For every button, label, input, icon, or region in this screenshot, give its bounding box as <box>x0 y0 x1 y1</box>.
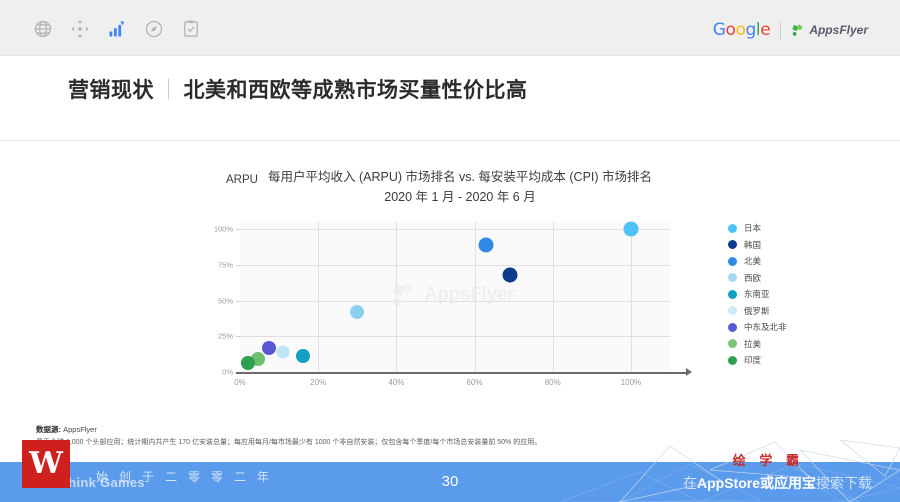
gridline-vertical <box>318 222 319 372</box>
page-title: 营销现状｜北美和西欧等成熟市场买量性价比高 <box>68 74 528 104</box>
gridline-horizontal <box>240 265 670 266</box>
brand-divider <box>780 21 781 40</box>
top-toolbar: Google AppsFlyer <box>0 0 900 56</box>
appstore-cta-prefix: 在 <box>683 475 697 491</box>
footnote-source-label: 数据源: <box>36 425 61 434</box>
appstore-cta-name: AppStore <box>697 475 760 491</box>
legend-swatch <box>728 257 737 266</box>
google-letter-g2: g <box>746 20 756 40</box>
chart-subtitle: 2020 年 1 月 - 2020 年 6 月 <box>180 186 740 205</box>
legend-item-北美[interactable]: 北美 <box>728 255 787 267</box>
legend-item-日本[interactable]: 日本 <box>728 222 787 234</box>
page-title-separator: ｜ <box>154 79 184 102</box>
legend-label: 东南亚 <box>744 288 770 300</box>
legend-swatch <box>728 290 737 299</box>
footnote-source-value: AppsFlyer <box>63 425 97 434</box>
y-tick-mark <box>236 265 240 266</box>
y-tick-mark <box>236 229 240 230</box>
appstore-cta: 在AppStore或应用宝搜索下载 <box>683 473 872 493</box>
page-number: 30 <box>442 473 459 490</box>
appsflyer-logo: AppsFlyer <box>791 23 868 38</box>
y-axis-label: ARPU <box>226 174 258 186</box>
google-letter-o2: o <box>736 20 746 40</box>
gridline-horizontal <box>240 229 670 230</box>
gridline-horizontal <box>240 336 670 337</box>
chart-legend: 日本韩国北美西欧东南亚俄罗斯中东及北非拉美印度 <box>728 222 787 366</box>
legend-item-中东及北非[interactable]: 中东及北非 <box>728 321 787 333</box>
footnote: 数据源: AppsFlyer 基于全球 1,000 个头部应用；统计期内共产生 … <box>36 424 866 449</box>
data-point-韩国[interactable] <box>502 267 517 282</box>
x-tick-label: 40% <box>388 378 404 387</box>
data-point-俄罗斯[interactable] <box>277 346 290 359</box>
google-letter-o1: o <box>725 20 735 40</box>
y-tick-mark <box>236 301 240 302</box>
legend-item-西欧[interactable]: 西欧 <box>728 272 787 284</box>
gridline-vertical <box>396 222 397 372</box>
x-axis-arrow-icon <box>686 368 692 376</box>
gridline-horizontal <box>240 301 670 302</box>
title-divider <box>0 140 900 141</box>
appsflyer-mark-icon <box>791 23 806 38</box>
x-tick-label: 0% <box>234 378 246 387</box>
legend-item-俄罗斯[interactable]: 俄罗斯 <box>728 305 787 317</box>
toolbar-icon-group <box>32 18 202 40</box>
legend-swatch <box>728 356 737 365</box>
page-title-main: 营销现状 <box>68 79 154 102</box>
x-tick-label: 80% <box>545 378 561 387</box>
legend-label: 中东及北非 <box>744 321 787 333</box>
bar-chart-icon[interactable] <box>106 18 128 40</box>
x-tick-label: 100% <box>621 378 641 387</box>
gridline-vertical <box>475 222 476 372</box>
data-point-日本[interactable] <box>623 222 638 237</box>
google-letter-g1: G <box>713 20 726 40</box>
slide-page: Google AppsFlyer 营销现状｜北美和西欧等成熟市场买量性价比高 每… <box>0 0 900 502</box>
huixueba-brand: 绘 学 霸 <box>733 450 804 469</box>
data-point-北美[interactable] <box>479 237 494 252</box>
appsflyer-wordmark: AppsFlyer <box>809 23 868 37</box>
legend-label: 韩国 <box>744 239 761 251</box>
y-tick-label: 75% <box>218 260 233 269</box>
legend-swatch <box>728 339 737 348</box>
compass-icon[interactable] <box>143 18 165 40</box>
appstore-cta-tail: 搜索下载 <box>816 475 872 491</box>
page-title-sub: 北美和西欧等成熟市场买量性价比高 <box>184 79 528 102</box>
google-logo: Google <box>713 20 771 40</box>
y-tick-label: 25% <box>218 332 233 341</box>
legend-label: 印度 <box>744 354 761 366</box>
plot-area: AppsFlyer 0%25%50%75%100% 0%20%40%60%80%… <box>240 222 670 372</box>
checklist-icon[interactable] <box>180 18 202 40</box>
data-point-中东及北非[interactable] <box>262 341 276 355</box>
legend-label: 西欧 <box>744 272 761 284</box>
y-tick-label: 0% <box>222 368 233 377</box>
legend-label: 日本 <box>744 222 761 234</box>
legend-item-印度[interactable]: 印度 <box>728 354 787 366</box>
legend-swatch <box>728 240 737 249</box>
slogan-text: 始创于二零零二年 <box>96 468 280 485</box>
brand-lockup: Google AppsFlyer <box>713 20 868 40</box>
huixueba-logo-glyph: W <box>29 449 63 479</box>
legend-swatch <box>728 306 737 315</box>
chart-title: 每用户平均收入 (ARPU) 市场排名 vs. 每安装平均成本 (CPI) 市场… <box>180 168 740 186</box>
legend-swatch <box>728 273 737 282</box>
data-point-东南亚[interactable] <box>296 349 310 363</box>
x-tick-label: 20% <box>310 378 326 387</box>
legend-item-东南亚[interactable]: 东南亚 <box>728 288 787 300</box>
gridline-vertical <box>631 222 632 372</box>
data-point-西欧[interactable] <box>350 305 364 319</box>
move-arrows-icon[interactable] <box>69 18 91 40</box>
huixueba-logo: W <box>22 440 70 488</box>
legend-label: 拉美 <box>744 338 761 350</box>
y-tick-label: 50% <box>218 296 233 305</box>
x-axis-line <box>236 372 686 374</box>
appstore-cta-suffix: 或应用宝 <box>760 475 816 491</box>
globe-icon[interactable] <box>32 18 54 40</box>
y-tick-label: 100% <box>214 225 233 234</box>
google-letter-e: e <box>760 20 770 40</box>
y-tick-mark <box>236 336 240 337</box>
footnote-source: 数据源: AppsFlyer <box>36 424 866 435</box>
data-point-印度[interactable] <box>241 356 255 370</box>
legend-item-拉美[interactable]: 拉美 <box>728 338 787 350</box>
x-tick-label: 60% <box>467 378 483 387</box>
legend-swatch <box>728 323 737 332</box>
legend-label: 北美 <box>744 255 761 267</box>
footnote-body: 基于全球 1,000 个头部应用；统计期内共产生 170 亿安装总量；每应用每月… <box>36 438 866 449</box>
legend-swatch <box>728 224 737 233</box>
legend-label: 俄罗斯 <box>744 305 770 317</box>
legend-item-韩国[interactable]: 韩国 <box>728 239 787 251</box>
gridline-vertical <box>553 222 554 372</box>
